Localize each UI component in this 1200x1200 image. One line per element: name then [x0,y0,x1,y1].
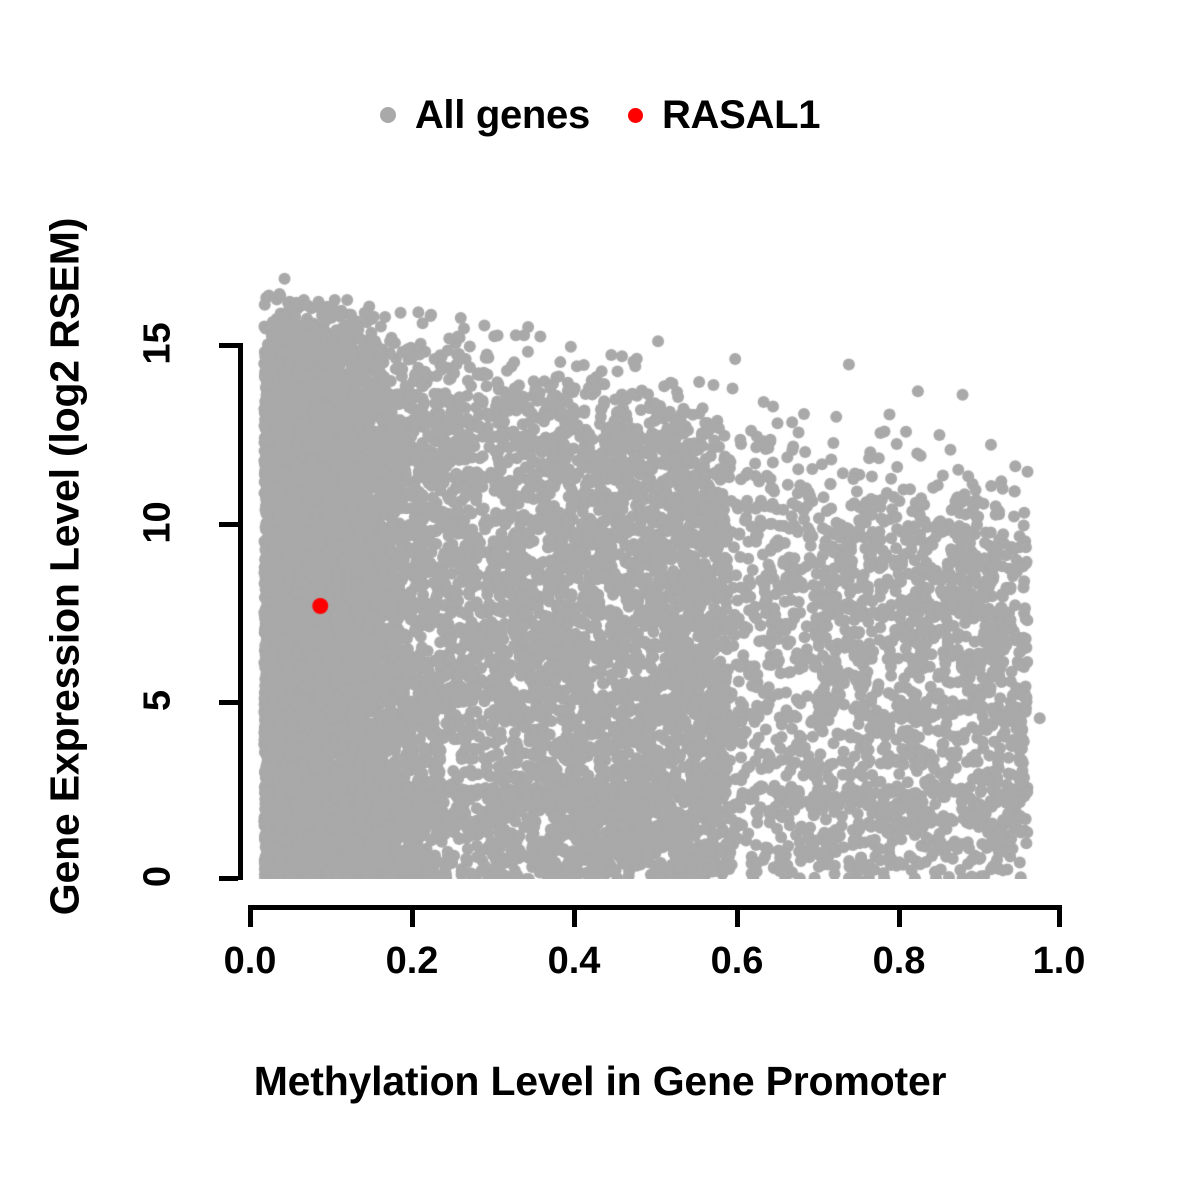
x-tick-label-3: 0.6 [677,940,797,983]
x-tick-3 [735,905,740,927]
chart-legend: All genes RASAL1 [0,88,1200,142]
all-genes-marker-icon [380,107,396,123]
legend-label-all-genes: All genes [415,93,590,138]
legend-entry-all-genes: All genes [380,93,590,138]
y-tick-label-5: 5 [137,671,180,731]
x-tick-1 [410,905,415,927]
rasal1-marker-icon [628,108,643,123]
x-tick-label-1: 0.2 [352,940,472,983]
x-tick-5 [1057,905,1062,927]
x-tick-label-2: 0.4 [514,940,634,983]
plot-area [248,240,1060,879]
y-tick-label-10: 10 [137,493,180,553]
x-tick-label-0: 0.0 [190,940,310,983]
y-tick-5 [219,700,238,705]
y-tick-label-15: 15 [137,314,180,374]
x-tick-label-4: 0.8 [839,940,959,983]
y-tick-label-0: 0 [137,847,180,907]
x-tick-2 [572,905,577,927]
y-axis-line [238,343,243,880]
legend-label-rasal1: RASAL1 [662,93,820,138]
x-tick-label-5: 1.0 [999,940,1119,983]
scatter-points-canvas [248,240,1060,879]
x-axis-line [248,905,1060,910]
x-tick-0 [248,905,253,927]
scatter-plot-figure: All genes RASAL1 15 10 5 0 0.0 0.2 0.4 0… [0,0,1200,1200]
legend-entry-rasal1: RASAL1 [628,93,820,138]
x-axis-title: Methylation Level in Gene Promoter [0,1058,1200,1105]
x-tick-4 [897,905,902,927]
y-tick-10 [219,522,238,527]
y-tick-0 [219,876,238,881]
y-axis-title: Gene Expression Level (log2 RSEM) [42,147,89,987]
y-tick-15 [219,343,238,348]
